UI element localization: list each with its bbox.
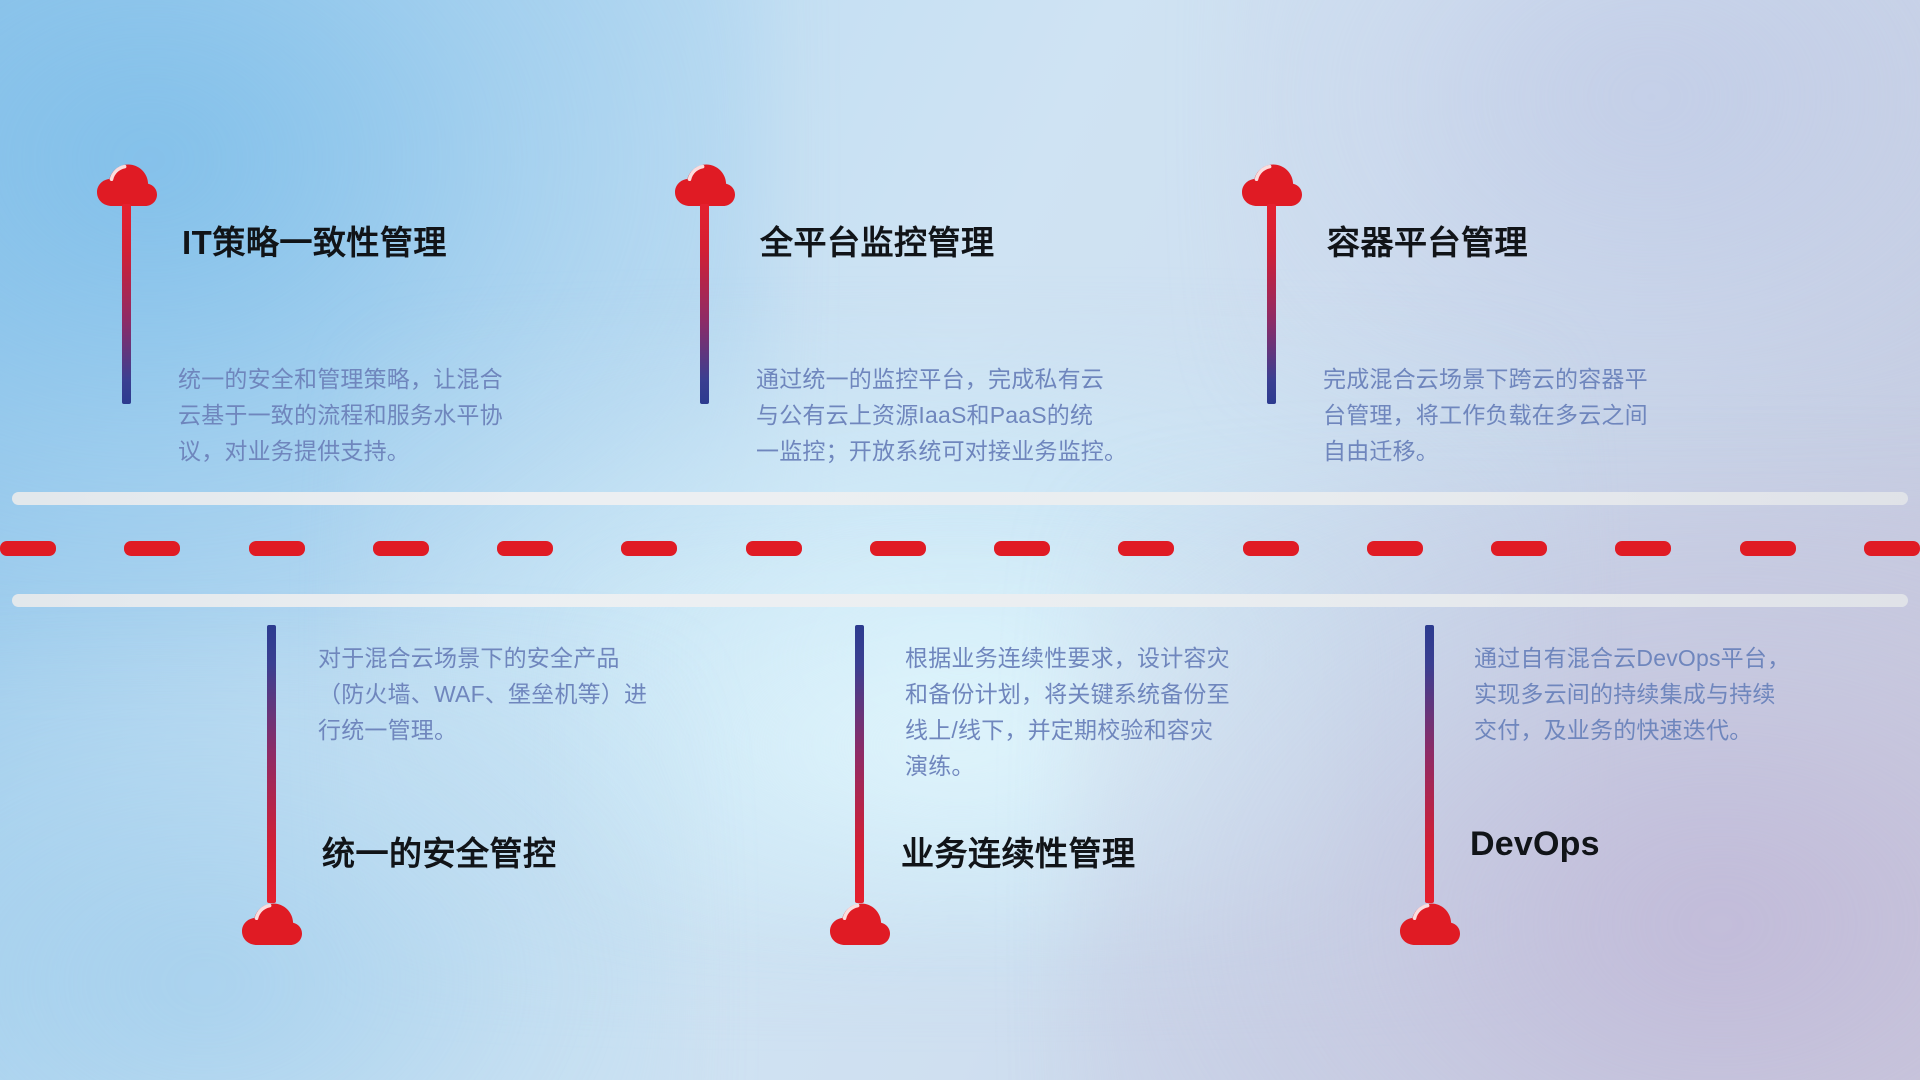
divider-dash bbox=[497, 541, 553, 556]
pin-stem bbox=[855, 625, 864, 903]
bottom-column-3-body: 通过自有混合云DevOps平台， 实现多云间的持续集成与持续 交付，及业务的快速… bbox=[1474, 640, 1894, 748]
cloud-icon bbox=[95, 160, 159, 208]
bottom-column-1-body: 对于混合云场景下的安全产品 （防火墙、WAF、堡垒机等）进 行统一管理。 bbox=[318, 640, 748, 748]
cloud-icon bbox=[673, 160, 737, 208]
cloud-icon bbox=[240, 899, 304, 947]
cloud-icon bbox=[1398, 899, 1462, 947]
top-column-2-title: 全平台监控管理 bbox=[760, 216, 995, 264]
divider-dash bbox=[1243, 541, 1299, 556]
divider-dash bbox=[1367, 541, 1423, 556]
top-column-1-body: 统一的安全和管理策略，让混合 云基于一致的流程和服务水平协 议，对业务提供支持。 bbox=[178, 361, 608, 469]
cloud-icon bbox=[828, 899, 892, 947]
divider-dash bbox=[249, 541, 305, 556]
bottom-column-2-title: 业务连续性管理 bbox=[901, 827, 1136, 875]
divider-dashed-line bbox=[0, 540, 1920, 556]
divider-dash bbox=[746, 541, 802, 556]
divider-dash bbox=[1740, 541, 1796, 556]
divider-dash bbox=[994, 541, 1050, 556]
divider-dash bbox=[373, 541, 429, 556]
bottom-column-2-body: 根据业务连续性要求，设计容灾 和备份计划，将关键系统备份至 线上/线下，并定期校… bbox=[905, 640, 1345, 784]
top-column-3-body: 完成混合云场景下跨云的容器平 台管理，将工作负载在多云之间 自由迁移。 bbox=[1323, 361, 1793, 469]
divider-dash bbox=[0, 541, 56, 556]
divider-rail-top bbox=[12, 492, 1908, 505]
top-column-3-title: 容器平台管理 bbox=[1327, 216, 1528, 264]
divider-rail-bottom bbox=[12, 594, 1908, 607]
cloud-icon bbox=[1240, 160, 1304, 208]
divider-dash bbox=[1615, 541, 1671, 556]
infographic-canvas: IT策略一致性管理 统一的安全和管理策略，让混合 云基于一致的流程和服务水平协 … bbox=[0, 0, 1920, 1080]
pin-stem bbox=[700, 204, 709, 404]
pin-stem bbox=[267, 625, 276, 903]
top-column-2-body: 通过统一的监控平台，完成私有云 与公有云上资源IaaS和PaaS的统 一监控；开… bbox=[756, 361, 1236, 469]
divider-dash bbox=[1118, 541, 1174, 556]
pin-stem bbox=[1425, 625, 1434, 903]
divider-dash bbox=[1491, 541, 1547, 556]
top-column-1-title: IT策略一致性管理 bbox=[182, 216, 447, 264]
divider-dash bbox=[870, 541, 926, 556]
divider-dash bbox=[621, 541, 677, 556]
pin-stem bbox=[122, 204, 131, 404]
divider-dash bbox=[1864, 541, 1920, 556]
bottom-column-3-title: DevOps bbox=[1470, 825, 1600, 864]
divider-dash bbox=[124, 541, 180, 556]
bottom-column-1-title: 统一的安全管控 bbox=[322, 827, 557, 875]
pin-stem bbox=[1267, 204, 1276, 404]
